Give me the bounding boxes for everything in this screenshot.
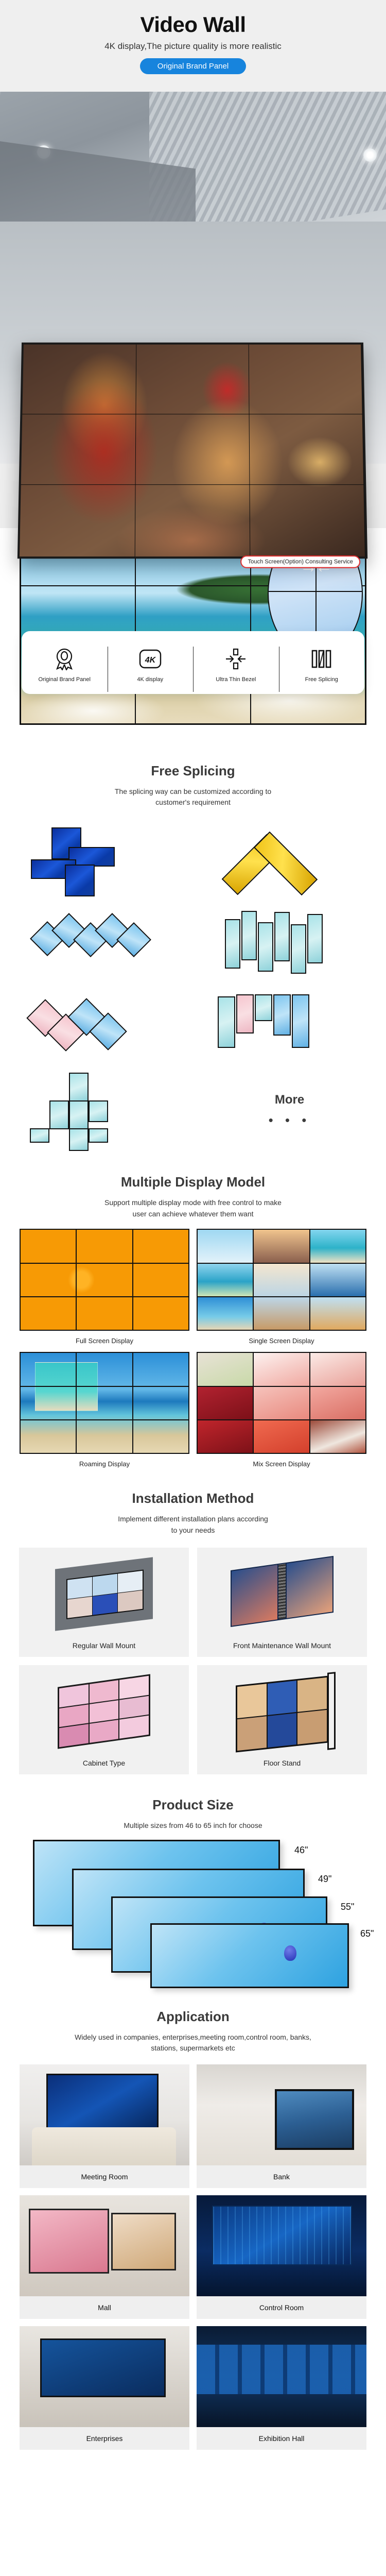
installation-regular-wall-mount[interactable]: Regular Wall Mount [19, 1548, 189, 1657]
application-photo [197, 2195, 366, 2296]
wall-cell [135, 485, 250, 557]
splicing-collage-diamonds [20, 907, 174, 984]
panels-icon [279, 646, 365, 672]
model-caption: Full Screen Display [20, 1337, 189, 1345]
product-detail-page: Video Wall 4K display,The picture qualit… [0, 0, 386, 2468]
more-label: More [213, 1093, 367, 1107]
feature-item-4k-display[interactable]: 4K 4K display [108, 642, 194, 683]
splicing-row [0, 822, 386, 904]
application-control-room[interactable]: Control Room [197, 2195, 366, 2319]
application-bank[interactable]: Bank [197, 2064, 366, 2188]
front-maintenance-illustration [231, 1556, 334, 1627]
display-model-roaming[interactable]: Roaming Display [20, 1352, 189, 1468]
splicing-row [0, 987, 386, 1069]
model-caption: Mix Screen Display [197, 1460, 366, 1468]
section-subtitle-line2: to your needs [0, 1525, 386, 1536]
display-model-grid: Full Screen Display Single Screen Displa… [0, 1219, 386, 1473]
section-subtitle: Multiple sizes from 46 to 65 inch for ch… [0, 1820, 386, 1832]
section-subtitle-line1: The splicing way can be customized accor… [0, 786, 386, 798]
application-header: Application Widely used in companies, en… [0, 1991, 386, 2054]
application-exhibition-hall[interactable]: Exhibition Hall [197, 2326, 366, 2450]
application-enterprises[interactable]: Enterprises [20, 2326, 189, 2450]
section-subtitle-line1: Implement different installation plans a… [0, 1514, 386, 1525]
installation-caption: Floor Stand [197, 1759, 367, 1767]
application-photo [197, 2064, 366, 2165]
installation-front-maintenance[interactable]: Front Maintenance Wall Mount [197, 1548, 367, 1657]
size-label: 65" [360, 1928, 374, 1939]
feature-item-ultra-thin-bezel[interactable]: Ultra Thin Bezel [193, 642, 279, 683]
wall-cell [250, 485, 365, 557]
installation-caption: Regular Wall Mount [19, 1641, 189, 1650]
floor-stand-illustration [236, 1675, 328, 1752]
model-caption: Roaming Display [20, 1460, 189, 1468]
section-subtitle-line2: customer's requirement [0, 797, 386, 808]
application-mall[interactable]: Mall [20, 2195, 189, 2319]
regular-wall-mount-illustration [55, 1557, 153, 1631]
video-wall-preview [20, 1352, 189, 1454]
feature-label: Original Brand Panel [22, 676, 108, 683]
splicing-collage-x [213, 824, 367, 902]
wall-cell [20, 485, 135, 557]
free-splicing-header: Free Splicing The splicing way can be cu… [0, 745, 386, 808]
installation-header: Installation Method Implement different … [0, 1473, 386, 1536]
installation-floor-stand[interactable]: Floor Stand [197, 1665, 367, 1774]
section-title: Free Splicing [0, 763, 386, 779]
application-photo [20, 2195, 189, 2296]
video-wall-preview [20, 1229, 189, 1331]
video-wall-preview [197, 1229, 366, 1331]
splicing-row [0, 904, 386, 987]
splicing-collage-cross [20, 824, 174, 902]
ceiling-light-icon [363, 148, 377, 162]
splicing-collage-pyramid [20, 1072, 174, 1149]
application-grid: Meeting Room Bank Mall Control Room Ente… [0, 2054, 386, 2468]
splicing-collage-rhombus [20, 989, 174, 1066]
size-label: 49" [318, 1874, 331, 1885]
original-brand-panel-badge[interactable]: Original Brand Panel [140, 58, 246, 74]
section-title: Product Size [0, 1797, 386, 1813]
touch-screen-option-badge[interactable]: Touch Screen(Option) Consulting Service [240, 555, 360, 568]
more-dots: • • • [213, 1112, 367, 1128]
splicing-collage-step [213, 907, 367, 984]
display-model-header: Multiple Display Model Support multiple … [0, 1157, 386, 1219]
wall-cell [22, 345, 136, 414]
display-model-single-screen[interactable]: Single Screen Display [197, 1229, 366, 1345]
wall-cell [21, 556, 135, 585]
arrows-inward-icon [193, 646, 279, 672]
hero-subtitle: 4K display,The picture quality is more r… [0, 41, 386, 52]
application-photo [197, 2326, 366, 2427]
product-size-header: Product Size Multiple sizes from 46 to 6… [0, 1780, 386, 1832]
wall-cell [21, 414, 135, 484]
section-title: Application [0, 2009, 386, 2025]
application-meeting-room[interactable]: Meeting Room [20, 2064, 189, 2188]
feature-item-free-splicing[interactable]: Free Splicing [279, 642, 365, 683]
application-caption: Meeting Room [20, 2165, 189, 2188]
model-caption: Single Screen Display [197, 1337, 366, 1345]
hero-header: Video Wall 4K display,The picture qualit… [0, 0, 386, 92]
feature-label: 4K display [108, 676, 194, 683]
size-label: 46" [294, 1845, 308, 1856]
section-title: Multiple Display Model [0, 1174, 386, 1190]
size-panel-65 [150, 1923, 349, 1988]
section-title: Installation Method [0, 1490, 386, 1506]
section-subtitle-line2: user can achieve whatever them want [0, 1209, 386, 1220]
page-title: Video Wall [0, 0, 386, 36]
splicing-layouts: More • • • [0, 808, 386, 1157]
video-wall-grid [20, 345, 365, 556]
size-label: 55" [341, 1902, 354, 1912]
application-photo [20, 2064, 189, 2165]
application-photo [20, 2326, 189, 2427]
video-wall-hero-photo: Touch Screen(Option) Consulting Service … [0, 222, 386, 464]
splicing-row: More • • • [0, 1069, 386, 1151]
installation-caption: Front Maintenance Wall Mount [197, 1641, 367, 1650]
application-caption: Enterprises [20, 2427, 189, 2450]
section-subtitle-line1: Support multiple display mode with free … [0, 1197, 386, 1209]
application-caption: Control Room [197, 2296, 366, 2319]
application-caption: Bank [197, 2165, 366, 2188]
installation-cabinet-type[interactable]: Cabinet Type [19, 1665, 189, 1774]
ceiling-light-icon [37, 145, 50, 159]
feature-highlights-card: Original Brand Panel 4K 4K display [22, 631, 364, 694]
display-model-mix-screen[interactable]: Mix Screen Display [197, 1352, 366, 1468]
wall-cell [135, 414, 250, 484]
video-wall-preview [197, 1352, 366, 1454]
wall-cell [136, 345, 249, 414]
section-subtitle-line1: Widely used in companies, enterprises,me… [0, 2032, 386, 2043]
display-model-full-screen[interactable]: Full Screen Display [20, 1229, 189, 1345]
cabinet-type-illustration [58, 1674, 150, 1749]
application-caption: Mall [20, 2296, 189, 2319]
splicing-collage-bars [213, 989, 367, 1066]
medal-icon [22, 646, 108, 672]
application-caption: Exhibition Hall [197, 2427, 366, 2450]
wall-cell [136, 556, 250, 585]
section-subtitle-line2: stations, supermarkets etc [0, 2043, 386, 2054]
ceiling-photo [0, 92, 386, 222]
wall-cell [250, 414, 364, 484]
feature-label: Ultra Thin Bezel [193, 676, 279, 683]
video-wall-display: Touch Screen(Option) Consulting Service [17, 343, 367, 558]
feature-item-original-brand-panel[interactable]: Original Brand Panel [22, 642, 108, 683]
svg-text:4K: 4K [145, 656, 156, 665]
feature-label: Free Splicing [279, 676, 365, 683]
more-layouts: More • • • [213, 1093, 367, 1128]
product-size-diagram: 46" 49" 55" 65" [0, 1832, 386, 1991]
installation-caption: Cabinet Type [19, 1759, 189, 1767]
4k-icon: 4K [108, 646, 194, 672]
wall-cell [249, 345, 363, 414]
hero-section: Video Wall 4K display,The picture qualit… [0, 0, 386, 222]
installation-grid: Regular Wall Mount Front Maintenance Wal… [0, 1536, 386, 1780]
